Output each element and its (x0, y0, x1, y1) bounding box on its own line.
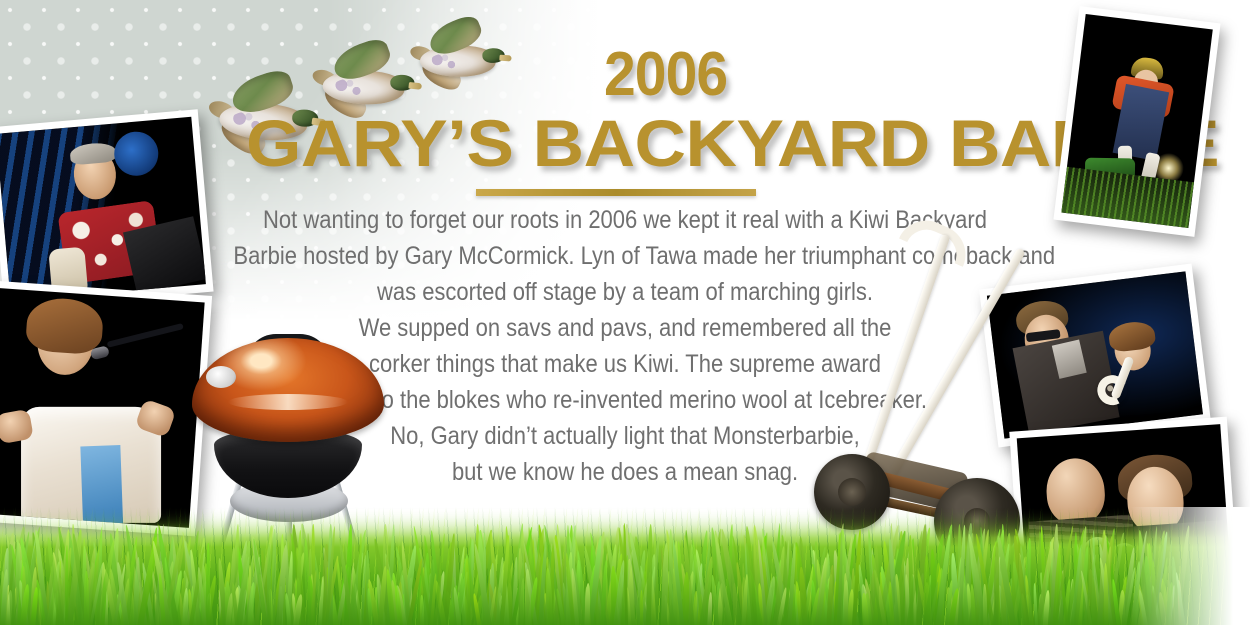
title-divider (476, 189, 756, 196)
year-heading: 2006 (604, 44, 727, 106)
grass-blade (267, 544, 271, 625)
photo-lyn-of-tawa: Performer in a white fur coat singing in… (0, 281, 212, 537)
grass-blade (874, 545, 880, 625)
poster-canvas: 2006 GARY’S BACKYARD BARBIE Not wanting … (0, 0, 1250, 625)
grass-right-fade (1130, 507, 1250, 625)
photo-night-mowing: Man in overalls and gumboots mowing a la… (1053, 6, 1220, 237)
grass-blade (1033, 583, 1038, 625)
flying-duck-icon (406, 20, 512, 94)
grass-blade (420, 594, 424, 625)
photo-gary-at-keys: Man in red Hawaiian shirt at a podium un… (0, 109, 214, 310)
grass-blades (0, 507, 1250, 625)
